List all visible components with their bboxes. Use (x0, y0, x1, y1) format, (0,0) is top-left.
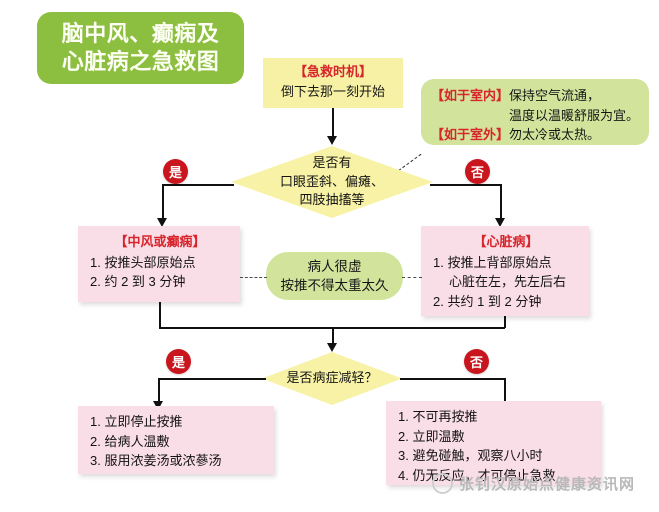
connector-stroke-down (159, 302, 161, 328)
environment-outdoor-text: 勿太冷或太热。 (509, 127, 600, 142)
node-environment-advice: 【如于室内】保持空气流通， 温度以温暖舒服为宜。 【如于室外】勿太冷或太热。 (421, 79, 649, 145)
chart-title-line-2: 心脏病之急救图 (62, 48, 220, 76)
connector-relief-yes-h (158, 378, 266, 380)
node-rescue-timing: 【急救时机】 倒下去那一刻开始 (263, 58, 403, 108)
outcome-improved-item-2: 2. 给病人温敷 (90, 432, 264, 452)
node-heart-treatment: 【心脏病】 1. 按推上背部原始点 心脏在左，先左后右 2. 共约 1 到 2 … (421, 226, 589, 316)
weak-note-line-1: 病人很虚 (308, 257, 362, 276)
connector-relief-no-h (400, 378, 505, 380)
decision-relief-text: 是否病症减轻？ (262, 352, 402, 405)
watermark: 张钊汉原始点健康资讯网 (432, 473, 635, 494)
heart-item-1: 1. 按推上背部原始点 (433, 253, 579, 273)
decision-symptoms-text: 是否有 口眼歪斜、偏瘫、 四肢抽搐等 (231, 146, 433, 218)
outcome-not-improved-item-2: 2. 立即温敷 (398, 427, 591, 447)
decision-symptoms-line-1: 是否有 (312, 154, 351, 172)
flowchart-canvas: 脑中风、癫痫及 心脏病之急救图 【急救时机】 倒下去那一刻开始 【如于室内】保持… (0, 0, 659, 512)
chart-title: 脑中风、癫痫及 心脏病之急救图 (37, 12, 244, 84)
environment-indoor-label: 【如于室内】 (431, 88, 509, 103)
heart-item-2: 2. 共约 1 到 2 分钟 (433, 292, 579, 312)
badge-no-relief-label: 否 (470, 352, 483, 371)
badge-no-relief: 否 (464, 349, 489, 374)
rescue-timing-header: 【急救时机】 (273, 63, 393, 82)
outcome-not-improved-item-1: 1. 不可再按推 (398, 407, 591, 427)
connector-decision-to-heart-h (430, 184, 502, 186)
badge-yes-relief-label: 是 (172, 352, 185, 371)
decision-relief-line: 是否病症减轻？ (286, 369, 377, 387)
stroke-header: 【中风或癫痫】 (90, 232, 230, 252)
outcome-improved-item-1: 1. 立即停止按推 (90, 412, 264, 432)
rescue-timing-body: 倒下去那一刻开始 (281, 84, 385, 99)
stroke-item-1: 1. 按推头部原始点 (90, 253, 230, 273)
node-stroke-treatment: 【中风或癫痫】 1. 按推头部原始点 2. 约 2 到 3 分钟 (78, 226, 240, 302)
stroke-item-2: 2. 约 2 到 3 分钟 (90, 272, 230, 292)
environment-indoor-line: 【如于室内】保持空气流通， (431, 86, 639, 106)
arrowhead-merge-to-decision (327, 343, 337, 352)
node-outcome-improved: 1. 立即停止按推 2. 给病人温敷 3. 服用浓姜汤或浓蔘汤 (78, 406, 274, 474)
decision-symptoms-line-2: 口眼歪斜、偏瘫、 (280, 173, 384, 191)
watermark-text: 张钊汉原始点健康资讯网 (459, 473, 635, 494)
environment-indoor-text: 保持空气流通， (509, 88, 600, 103)
connector-decision-to-stroke-h (162, 184, 234, 186)
connector-note-to-stroke-dashed (240, 277, 267, 278)
heart-item-1b: 心脏在左，先左后右 (433, 272, 579, 292)
arrowhead-timing-to-decision (327, 136, 337, 145)
node-decision-relief: 是否病症减轻？ (262, 352, 402, 405)
badge-no-symptoms: 否 (465, 159, 490, 184)
decision-symptoms-line-3: 四肢抽搐等 (299, 191, 364, 209)
badge-yes-symptoms: 是 (163, 159, 188, 184)
circle-logo-icon (432, 473, 453, 494)
badge-yes-relief: 是 (166, 349, 191, 374)
environment-outdoor-label: 【如于室外】 (431, 127, 509, 142)
environment-indoor-line-2: 温度以温暖舒服为宜。 (431, 106, 639, 126)
node-decision-symptoms: 是否有 口眼歪斜、偏瘫、 四肢抽搐等 (231, 146, 433, 218)
badge-no-symptoms-label: 否 (471, 162, 484, 181)
connector-decision-to-heart-v (500, 184, 502, 221)
badge-yes-symptoms-label: 是 (169, 162, 182, 181)
connector-decision-to-stroke-v (162, 184, 164, 221)
connector-note-to-heart-dashed (402, 277, 422, 278)
heart-header: 【心脏病】 (433, 232, 579, 252)
chart-title-line-1: 脑中风、癫痫及 (62, 20, 220, 48)
connector-timing-to-decision (332, 108, 334, 138)
weak-note-line-2: 按推不得太重太久 (281, 276, 389, 295)
outcome-improved-item-3: 3. 服用浓姜汤或浓蔘汤 (90, 451, 264, 471)
outcome-not-improved-item-3: 3. 避免碰触，观察八小时 (398, 446, 591, 466)
environment-outdoor-line: 【如于室外】勿太冷或太热。 (431, 125, 639, 145)
node-weak-patient-note: 病人很虚 按推不得太重太久 (266, 252, 403, 300)
